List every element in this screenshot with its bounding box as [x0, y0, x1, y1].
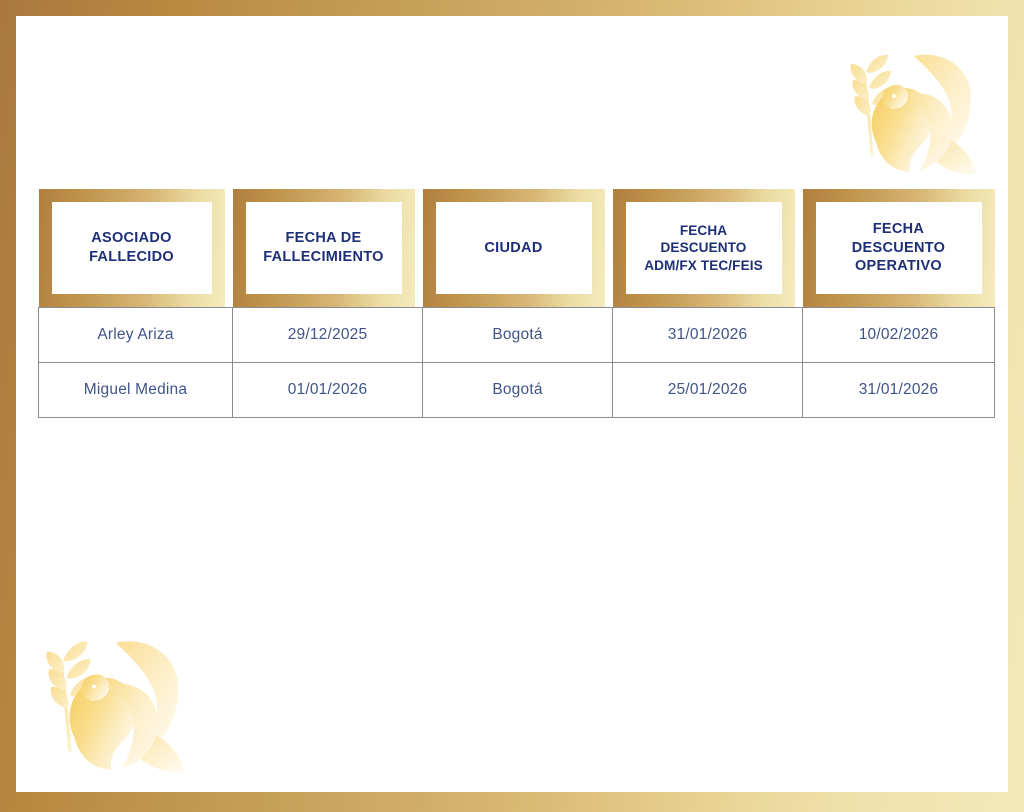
column-header-label: CIUDAD [481, 239, 545, 258]
column-header-fecha-descuento-adm: FECHA DESCUENTO ADM/FX TEC/FEIS [613, 189, 803, 308]
column-header-ciudad: CIUDAD [423, 189, 613, 308]
header-plate: FECHA DESCUENTO ADM/FX TEC/FEIS [626, 202, 782, 294]
cell-asociado: Miguel Medina [39, 363, 233, 418]
cell-fecha-descuento-adm: 25/01/2026 [613, 363, 803, 418]
table-body: Arley Ariza 29/12/2025 Bogotá 31/01/2026… [39, 308, 995, 418]
cell-fecha-descuento-operativo: 31/01/2026 [803, 363, 995, 418]
header-block: ASOCIADO FALLECIDO [39, 189, 225, 307]
column-header-label: FECHA DESCUENTO OPERATIVO [849, 220, 948, 276]
decorative-gold-frame: ASOCIADO FALLECIDO FECHA DE FALLECIMIENT… [0, 0, 1024, 812]
dove-with-branch-icon [836, 26, 986, 186]
header-block: FECHA DESCUENTO OPERATIVO [803, 189, 995, 307]
header-plate: FECHA DESCUENTO OPERATIVO [816, 202, 982, 294]
header-plate: FECHA DE FALLECIMIENTO [246, 202, 402, 294]
header-block: FECHA DE FALLECIMIENTO [233, 189, 415, 307]
page-content-area: ASOCIADO FALLECIDO FECHA DE FALLECIMIENT… [16, 16, 1008, 792]
column-header-asociado-fallecido: ASOCIADO FALLECIDO [39, 189, 233, 308]
column-header-label: FECHA DESCUENTO ADM/FX TEC/FEIS [641, 222, 766, 274]
column-header-fecha-de-fallecimiento: FECHA DE FALLECIMIENTO [233, 189, 423, 308]
table-header-row: ASOCIADO FALLECIDO FECHA DE FALLECIMIENT… [39, 189, 995, 308]
column-header-label: ASOCIADO FALLECIDO [86, 229, 177, 266]
cell-fecha-descuento-adm: 31/01/2026 [613, 308, 803, 363]
cell-asociado: Arley Ariza [39, 308, 233, 363]
cell-fecha-fallecimiento: 01/01/2026 [233, 363, 423, 418]
column-header-label: FECHA DE FALLECIMIENTO [260, 229, 386, 266]
deceased-members-table-container: ASOCIADO FALLECIDO FECHA DE FALLECIMIENT… [38, 189, 994, 418]
cell-ciudad: Bogotá [423, 363, 613, 418]
table-header: ASOCIADO FALLECIDO FECHA DE FALLECIMIENT… [39, 189, 995, 308]
table-row: Miguel Medina 01/01/2026 Bogotá 25/01/20… [39, 363, 995, 418]
dove-with-branch-icon [30, 610, 195, 785]
deceased-members-table: ASOCIADO FALLECIDO FECHA DE FALLECIMIENT… [38, 189, 995, 418]
table-row: Arley Ariza 29/12/2025 Bogotá 31/01/2026… [39, 308, 995, 363]
cell-fecha-fallecimiento: 29/12/2025 [233, 308, 423, 363]
header-block: FECHA DESCUENTO ADM/FX TEC/FEIS [613, 189, 795, 307]
header-plate: ASOCIADO FALLECIDO [52, 202, 212, 294]
cell-fecha-descuento-operativo: 10/02/2026 [803, 308, 995, 363]
header-plate: CIUDAD [436, 202, 592, 294]
header-block: CIUDAD [423, 189, 605, 307]
cell-ciudad: Bogotá [423, 308, 613, 363]
column-header-fecha-descuento-operativo: FECHA DESCUENTO OPERATIVO [803, 189, 995, 308]
